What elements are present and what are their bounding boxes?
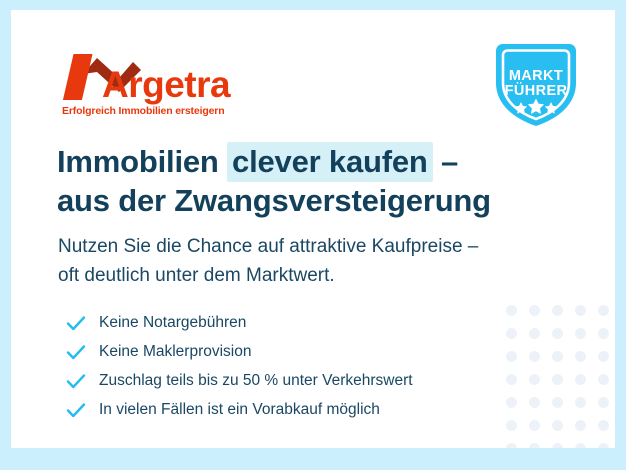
list-item: Keine Notargebühren — [65, 308, 413, 337]
decorative-dot — [598, 328, 609, 339]
decorative-dot — [552, 397, 563, 408]
svg-text:Argetra: Argetra — [102, 64, 231, 105]
banner-card: Argetra Erfolgreich Immobilien ersteiger… — [11, 10, 615, 448]
decorative-dot — [598, 420, 609, 431]
benefits-list: Keine Notargebühren Keine Maklerprovisio… — [65, 308, 413, 424]
decorative-dot — [529, 351, 540, 362]
decorative-dot — [575, 328, 586, 339]
list-item: Zuschlag teils bis zu 50 % unter Verkehr… — [65, 366, 413, 395]
decorative-dot — [506, 397, 517, 408]
list-item-label: In vielen Fällen ist ein Vorabkauf mögli… — [99, 400, 380, 420]
promo-banner: Argetra Erfolgreich Immobilien ersteiger… — [0, 0, 626, 470]
decorative-dot — [552, 443, 563, 448]
decorative-dot — [552, 305, 563, 316]
check-icon — [65, 370, 87, 392]
decorative-dot — [506, 328, 517, 339]
check-icon — [65, 399, 87, 421]
decorative-dot — [552, 328, 563, 339]
decorative-dot — [575, 351, 586, 362]
decorative-dot — [552, 420, 563, 431]
decorative-dot — [529, 443, 540, 448]
decorative-dot — [506, 305, 517, 316]
list-item-label: Keine Notargebühren — [99, 313, 246, 333]
svg-text:FÜHRER: FÜHRER — [505, 82, 568, 99]
svg-text:Erfolgreich Immobilien ersteig: Erfolgreich Immobilien ersteigern — [62, 105, 225, 117]
check-icon — [65, 312, 87, 334]
headline-highlight: clever kaufen — [227, 142, 433, 182]
decorative-dot — [552, 351, 563, 362]
decorative-dot — [529, 374, 540, 385]
subheadline-line-2: oft deutlich unter dem Marktwert. — [58, 261, 478, 290]
decorative-dot — [506, 443, 517, 448]
decorative-dot — [598, 305, 609, 316]
list-item: Keine Maklerprovision — [65, 337, 413, 366]
headline-prefix: Immobilien — [57, 144, 227, 179]
list-item-label: Keine Maklerprovision — [99, 342, 252, 362]
decorative-dot — [506, 420, 517, 431]
subheadline-line-1: Nutzen Sie die Chance auf attraktive Kau… — [58, 232, 478, 261]
argetra-logo[interactable]: Argetra Erfolgreich Immobilien ersteiger… — [57, 52, 247, 120]
decorative-dot — [529, 397, 540, 408]
headline-suffix: – — [433, 144, 458, 179]
check-icon — [65, 341, 87, 363]
headline-line-1: Immobilien clever kaufen – — [57, 142, 491, 181]
headline: Immobilien clever kaufen – aus der Zwang… — [57, 142, 491, 220]
svg-text:MARKT: MARKT — [509, 68, 563, 84]
decorative-dot — [552, 374, 563, 385]
market-leader-badge: MARKT FÜHRER MARKT FÜHRER — [487, 39, 585, 131]
decorative-dot — [598, 397, 609, 408]
decorative-dot — [529, 420, 540, 431]
decorative-dot — [575, 397, 586, 408]
decorative-dot — [529, 305, 540, 316]
dot-grid-decoration — [500, 299, 615, 448]
list-item: In vielen Fällen ist ein Vorabkauf mögli… — [65, 395, 413, 424]
decorative-dot — [529, 328, 540, 339]
decorative-dot — [598, 351, 609, 362]
list-item-label: Zuschlag teils bis zu 50 % unter Verkehr… — [99, 371, 413, 391]
subheadline: Nutzen Sie die Chance auf attraktive Kau… — [58, 232, 478, 290]
decorative-dot — [598, 374, 609, 385]
decorative-dot — [506, 374, 517, 385]
headline-line-2: aus der Zwangsversteigerung — [57, 181, 491, 220]
decorative-dot — [598, 443, 609, 448]
decorative-dot — [575, 305, 586, 316]
decorative-dot — [575, 420, 586, 431]
decorative-dot — [506, 351, 517, 362]
decorative-dot — [575, 374, 586, 385]
decorative-dot — [575, 443, 586, 448]
